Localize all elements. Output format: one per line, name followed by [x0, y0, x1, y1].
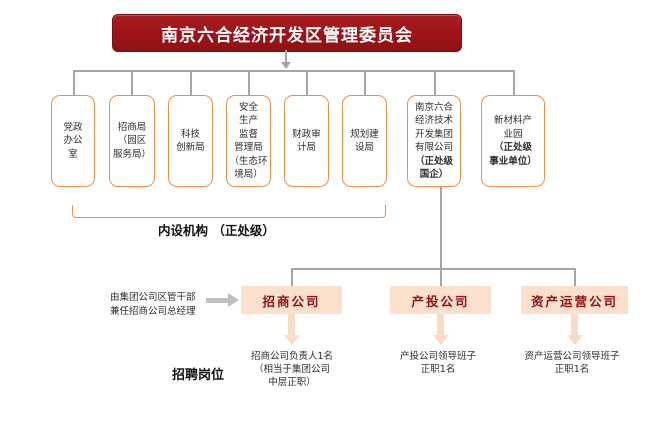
recruitment-note-asset-operation-company: 资产运营公司领导班子 正职1名 [509, 350, 635, 376]
connector-subsidiary-drop-3 [574, 268, 576, 286]
subsidiary-label: 招商公司 [262, 291, 320, 310]
note-stem-2 [437, 314, 444, 335]
internal-org-label: 内设机构 （正处级） [158, 220, 275, 239]
dept-label: 科技 创新局 [176, 128, 205, 155]
subsidiary-box-investment-company[interactable]: 招商公司 [241, 286, 342, 314]
dept-label: 招商局 （园区 服务局） [113, 121, 151, 162]
connector-drop-1 [73, 70, 75, 95]
connector-drop-8 [513, 70, 515, 95]
connector-group-stem [440, 187, 442, 269]
dept-box-party-government-office[interactable]: 党政 办公 室 [51, 95, 95, 187]
connector-department-bus [73, 70, 513, 72]
side-note-arrow-icon [228, 293, 239, 307]
dept-label: 财政审 计局 [292, 128, 321, 155]
connector-subsidiary-bus [291, 268, 576, 270]
recruitment-note-industrial-investment-company: 产投公司领导班子 正职1名 [380, 350, 496, 376]
subsidiary-label: 产投公司 [411, 291, 469, 310]
connector-drop-5 [306, 70, 308, 95]
connector-drop-7 [434, 70, 436, 95]
dept-box-development-group-company[interactable]: 南京六合 经济技术 开发集团 有限公司 （正处级 国企） [407, 95, 461, 187]
internal-org-bracket [72, 205, 386, 218]
side-note-arrow-tail [206, 298, 228, 303]
dept-box-investment-promotion-bureau[interactable]: 招商局 （园区 服务局） [109, 95, 155, 187]
page-title: 南京六合经济开发区管理委员会 [161, 21, 413, 46]
dept-label: 南京六合 经济技术 开发集团 有限公司 （正处级 国企） [415, 101, 453, 182]
connector-drop-3 [190, 70, 192, 95]
connector-subsidiary-drop-1 [291, 268, 293, 286]
dept-box-science-technology-innovation-bureau[interactable]: 科技 创新局 [168, 95, 213, 187]
dept-label: 党政 办公 室 [63, 121, 82, 162]
recruitment-note-investment-company: 招商公司负责人1名 （相当于集团公司 中层正职） [231, 350, 353, 389]
dept-label: 规划建 设局 [350, 128, 379, 155]
dept-box-new-material-industrial-park[interactable]: 新材料产 业园 （正处级 事业单位） [481, 95, 545, 187]
dept-box-work-safety-supervision-bureau[interactable]: 安全 生产 监督 管理局 （生态环 境局） [226, 95, 271, 187]
note-arrow-icon-1 [284, 335, 300, 345]
dept-box-planning-construction-bureau[interactable]: 规划建 设局 [342, 95, 387, 187]
org-root-title-box: 南京六合经济开发区管理委员会 [112, 14, 462, 52]
dept-label: 新材料产 业园 （正处级 事业单位） [489, 114, 537, 168]
connector-subsidiary-drop-2 [440, 268, 442, 286]
connector-drop-6 [364, 70, 366, 95]
note-stem-1 [288, 314, 295, 335]
subsidiary-label: 资产运营公司 [531, 291, 618, 310]
note-arrow-icon-2 [433, 335, 449, 345]
org-chart-canvas: 南京六合经济开发区管理委员会 党政 办公 室 招商局 （园区 服务局） 科技 创… [0, 0, 646, 437]
subsidiary-box-industrial-investment-company[interactable]: 产投公司 [390, 286, 491, 314]
recruitment-label: 招聘岗位 [172, 364, 224, 383]
side-note-investment-manager: 由集团公司区管干部 兼任招商公司总经理 [110, 291, 196, 318]
connector-drop-4 [248, 70, 250, 95]
note-stem-3 [571, 314, 578, 335]
connector-drop-2 [131, 70, 133, 95]
dept-box-finance-audit-bureau[interactable]: 财政审 计局 [284, 95, 329, 187]
note-arrow-icon-3 [567, 335, 583, 345]
dept-label: 安全 生产 监督 管理局 （生态环 境局） [229, 101, 267, 182]
subsidiary-box-asset-operation-company[interactable]: 资产运营公司 [521, 286, 628, 314]
connector-title-arrow-icon [281, 62, 291, 69]
